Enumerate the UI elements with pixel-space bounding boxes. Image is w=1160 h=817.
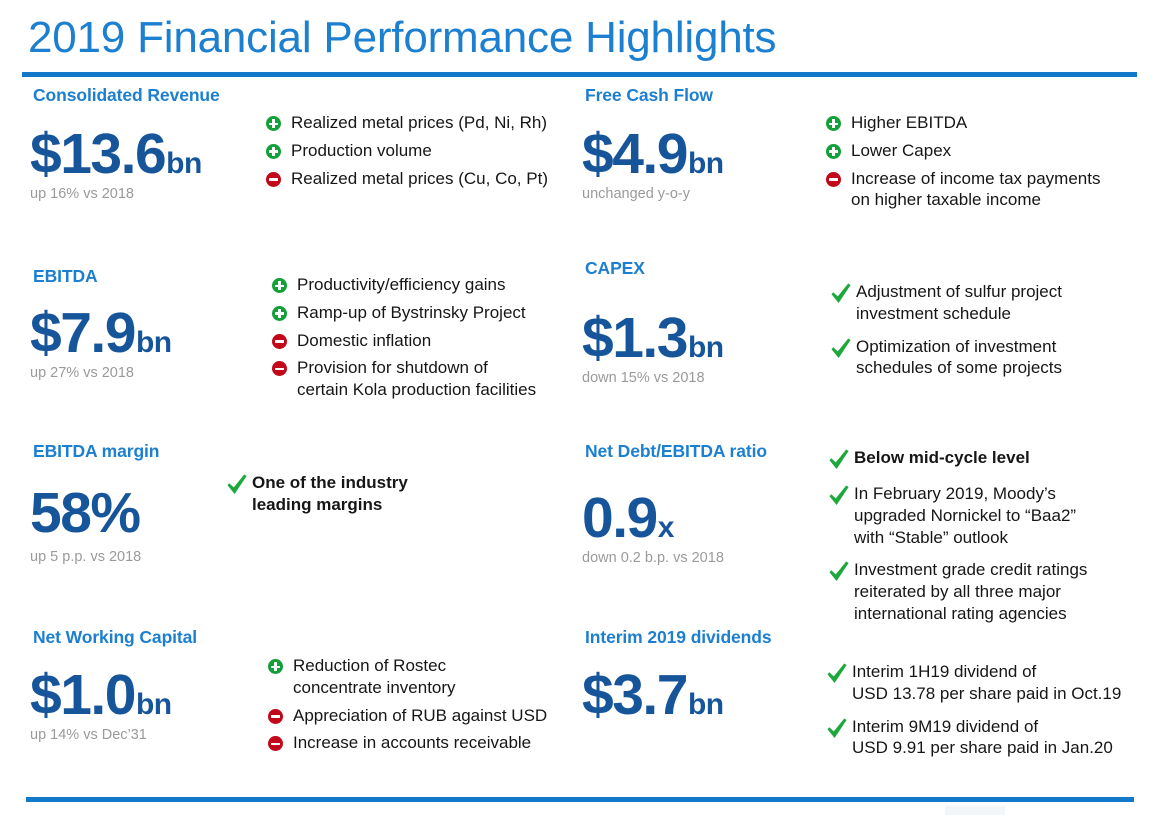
list-item-label: Increase of income tax payments on highe…	[851, 168, 1100, 212]
metric-heading-consolidated-revenue: Consolidated Revenue	[33, 85, 220, 106]
metric-value: $1.0	[30, 667, 135, 724]
list-item-label: Lower Capex	[851, 140, 951, 162]
metric-note: up 27% vs 2018	[30, 365, 172, 381]
list-item: Higher EBITDA	[826, 112, 1100, 134]
list-item: Interim 1H19 dividend of USD 13.78 per s…	[826, 661, 1121, 705]
list-item-label: Ramp-up of Bystrinsky Project	[297, 302, 526, 324]
metric-value-suffix: %	[90, 480, 139, 546]
metric-value-block-net-debt-ebitda-ratio: 0.9xdown 0.2 b.p. vs 2018	[582, 490, 724, 566]
plus-icon	[268, 659, 283, 674]
metric-note: unchanged y-o-y	[582, 186, 724, 202]
metric-value-block-ebitda: $7.9bnup 27% vs 2018	[30, 305, 172, 381]
list-item-label: Domestic inflation	[297, 330, 431, 352]
list-item: One of the industry leading margins	[226, 472, 408, 516]
metric-value-block-ebitda-margin: 58%up 5 p.p. vs 2018	[30, 480, 141, 565]
metric-note: down 15% vs 2018	[582, 370, 724, 386]
metric-heading-ebitda: EBITDA	[33, 266, 98, 287]
bullet-list-net-debt-ebitda-ratio: Below mid-cycle levelIn February 2019, M…	[828, 447, 1087, 636]
list-item: Realized metal prices (Pd, Ni, Rh)	[266, 112, 548, 134]
metric-value-row: $1.3bn	[582, 310, 724, 367]
list-item: Increase in accounts receivable	[268, 732, 547, 754]
metric-value-block-net-working-capital: $1.0bnup 14% vs Dec’31	[30, 667, 172, 743]
list-item-label: Interim 9M19 dividend of USD 9.91 per sh…	[852, 716, 1113, 760]
page-title: 2019 Financial Performance Highlights	[28, 13, 776, 63]
bullet-list-ebitda: Productivity/efficiency gainsRamp-up of …	[272, 274, 536, 407]
plus-icon	[272, 306, 287, 321]
list-item-label: Production volume	[291, 140, 432, 162]
metric-value-suffix: bn	[136, 688, 172, 722]
plus-icon	[272, 278, 287, 293]
list-item: Realized metal prices (Cu, Co, Pt)	[266, 168, 548, 190]
metric-heading-interim-2019-dividends: Interim 2019 dividends	[585, 627, 771, 648]
list-item-label: Realized metal prices (Pd, Ni, Rh)	[291, 112, 547, 134]
metric-value: 58	[30, 485, 90, 542]
metric-note: up 14% vs Dec’31	[30, 727, 172, 743]
metric-heading-ebitda-margin: EBITDA margin	[33, 441, 159, 462]
metric-value-row: $4.9bn	[582, 126, 724, 183]
minus-icon	[268, 736, 283, 751]
plus-icon	[826, 116, 841, 131]
metric-value-suffix: bn	[688, 147, 724, 181]
bullet-list-consolidated-revenue: Realized metal prices (Pd, Ni, Rh)Produc…	[266, 112, 548, 195]
list-item: Interim 9M19 dividend of USD 9.91 per sh…	[826, 716, 1121, 760]
list-item: Adjustment of sulfur project investment …	[830, 281, 1062, 325]
list-item-label: Reduction of Rostec concentrate inventor…	[293, 655, 456, 699]
check-icon	[830, 282, 852, 306]
minus-icon	[268, 709, 283, 724]
list-item: Lower Capex	[826, 140, 1100, 162]
metric-value: $4.9	[582, 126, 687, 183]
list-item: Optimization of investment schedules of …	[830, 336, 1062, 380]
check-icon	[828, 484, 850, 508]
metric-value-row: $1.0bn	[30, 667, 172, 724]
check-icon	[826, 662, 848, 686]
plus-icon	[826, 144, 841, 159]
metric-value-row: $7.9bn	[30, 305, 172, 362]
header-divider	[22, 72, 1137, 77]
minus-icon	[266, 172, 281, 187]
check-icon	[828, 560, 850, 584]
list-item-label: Below mid-cycle level	[854, 447, 1030, 469]
list-item: Productivity/efficiency gains	[272, 274, 536, 296]
list-item: Ramp-up of Bystrinsky Project	[272, 302, 536, 324]
metric-heading-free-cash-flow: Free Cash Flow	[585, 85, 713, 106]
bullet-list-interim-2019-dividends: Interim 1H19 dividend of USD 13.78 per s…	[826, 661, 1121, 770]
list-item: Below mid-cycle level	[828, 447, 1087, 472]
minus-icon	[272, 361, 287, 376]
list-item-label: Provision for shutdown of certain Kola p…	[297, 357, 536, 401]
metric-value: $3.7	[582, 667, 687, 724]
metric-value-row: $3.7bn	[582, 667, 724, 724]
metric-value-suffix: bn	[136, 326, 172, 360]
list-item-label: Increase in accounts receivable	[293, 732, 531, 754]
metric-value: 0.9	[582, 490, 657, 547]
metric-value-row: 0.9x	[582, 490, 724, 547]
list-item: In February 2019, Moody’s upgraded Norni…	[828, 483, 1087, 548]
metric-note: down 0.2 b.p. vs 2018	[582, 550, 724, 566]
list-item: Appreciation of RUB against USD	[268, 705, 547, 727]
list-item-label: Interim 1H19 dividend of USD 13.78 per s…	[852, 661, 1121, 705]
bullet-list-net-working-capital: Reduction of Rostec concentrate inventor…	[268, 655, 547, 760]
slide-root: 2019 Financial Performance Highlights Co…	[0, 0, 1160, 817]
check-icon	[826, 717, 848, 741]
minus-icon	[826, 172, 841, 187]
list-item: Investment grade credit ratings reiterat…	[828, 559, 1087, 624]
list-item-label: Higher EBITDA	[851, 112, 967, 134]
metric-value-suffix: bn	[688, 688, 724, 722]
metric-value-block-free-cash-flow: $4.9bnunchanged y-o-y	[582, 126, 724, 202]
metric-value: $13.6	[30, 126, 165, 183]
metric-heading-capex: CAPEX	[585, 258, 645, 279]
metric-heading-net-working-capital: Net Working Capital	[33, 627, 197, 648]
plus-icon	[266, 116, 281, 131]
footer-divider	[26, 797, 1134, 802]
metric-value: $7.9	[30, 305, 135, 362]
minus-icon	[272, 334, 287, 349]
check-icon	[828, 448, 850, 472]
list-item: Reduction of Rostec concentrate inventor…	[268, 655, 547, 699]
list-item-label: Investment grade credit ratings reiterat…	[854, 559, 1087, 624]
metric-value-suffix: bn	[166, 147, 202, 181]
metric-value: $1.3	[582, 310, 687, 367]
list-item: Increase of income tax payments on highe…	[826, 168, 1100, 212]
bullet-list-free-cash-flow: Higher EBITDALower CapexIncrease of inco…	[826, 112, 1100, 217]
list-item-label: Adjustment of sulfur project investment …	[856, 281, 1062, 325]
metric-value-row: $13.6bn	[30, 126, 202, 183]
metric-value-block-interim-2019-dividends: $3.7bn	[582, 667, 724, 724]
list-item-label: Optimization of investment schedules of …	[856, 336, 1062, 380]
list-item-label: One of the industry leading margins	[252, 472, 408, 516]
metric-heading-net-debt-ebitda-ratio: Net Debt/EBITDA ratio	[585, 441, 767, 462]
metric-value-suffix: x	[658, 511, 674, 545]
metric-value-suffix: bn	[688, 331, 724, 365]
metric-value-row: 58%	[30, 480, 141, 546]
bullet-list-ebitda-margin: One of the industry leading margins	[226, 472, 408, 527]
list-item-label: Productivity/efficiency gains	[297, 274, 506, 296]
list-item: Domestic inflation	[272, 330, 536, 352]
bullet-list-capex: Adjustment of sulfur project investment …	[830, 281, 1062, 390]
footer-mark	[945, 806, 1005, 815]
metric-note: up 16% vs 2018	[30, 186, 202, 202]
plus-icon	[266, 144, 281, 159]
list-item: Provision for shutdown of certain Kola p…	[272, 357, 536, 401]
check-icon	[830, 337, 852, 361]
list-item-label: Realized metal prices (Cu, Co, Pt)	[291, 168, 548, 190]
list-item: Production volume	[266, 140, 548, 162]
list-item-label: Appreciation of RUB against USD	[293, 705, 547, 727]
check-icon	[226, 473, 248, 497]
metric-value-block-consolidated-revenue: $13.6bnup 16% vs 2018	[30, 126, 202, 202]
list-item-label: In February 2019, Moody’s upgraded Norni…	[854, 483, 1076, 548]
metric-note: up 5 p.p. vs 2018	[30, 549, 141, 565]
metric-value-block-capex: $1.3bndown 15% vs 2018	[582, 310, 724, 386]
